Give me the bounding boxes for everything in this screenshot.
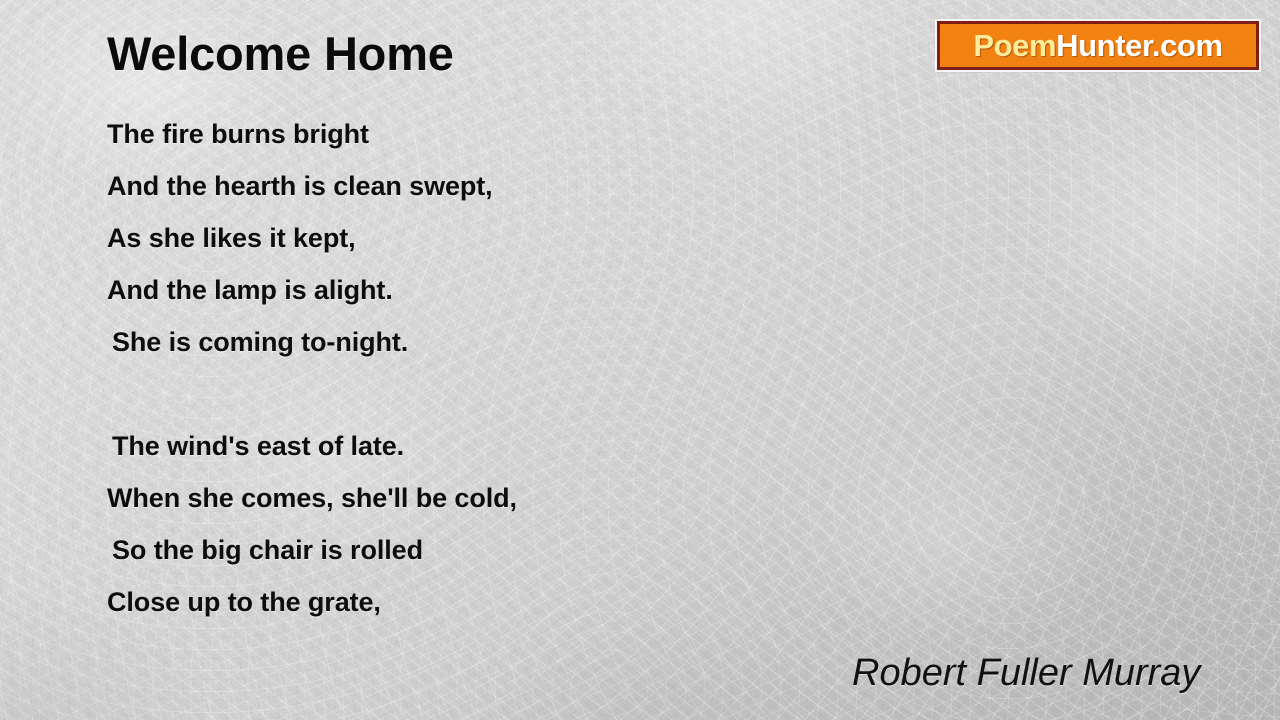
poem-line: And the hearth is clean swept, bbox=[0, 160, 700, 212]
poem-line: When she comes, she'll be cold, bbox=[0, 472, 700, 524]
author-name: Robert Fuller Murray bbox=[852, 652, 1200, 695]
poem-line: So the big chair is rolled bbox=[0, 524, 700, 576]
poem-line: And the lamp is alight. bbox=[0, 264, 700, 316]
poem-line: As she likes it kept, bbox=[0, 212, 700, 264]
poem-image-canvas: Welcome Home PoemHunter.com The fire bur… bbox=[0, 0, 1280, 720]
poem-line: She is coming to-night. bbox=[0, 316, 700, 368]
logo-text-poem: Poem bbox=[973, 28, 1056, 63]
poem-stanza: The wind's east of late.When she comes, … bbox=[0, 420, 700, 628]
page-title: Welcome Home bbox=[107, 26, 454, 81]
logo-text-hunter: Hunter.com bbox=[1056, 28, 1223, 63]
poem-stanza: The fire burns brightAnd the hearth is c… bbox=[0, 108, 700, 368]
poemhunter-logo-text: PoemHunter.com bbox=[973, 30, 1222, 61]
poem-line: The fire burns bright bbox=[0, 108, 700, 160]
poemhunter-logo[interactable]: PoemHunter.com bbox=[937, 21, 1259, 70]
poem-line: The wind's east of late. bbox=[0, 420, 700, 472]
poem-text: The fire burns brightAnd the hearth is c… bbox=[0, 108, 700, 628]
poem-line: Close up to the grate, bbox=[0, 576, 700, 628]
